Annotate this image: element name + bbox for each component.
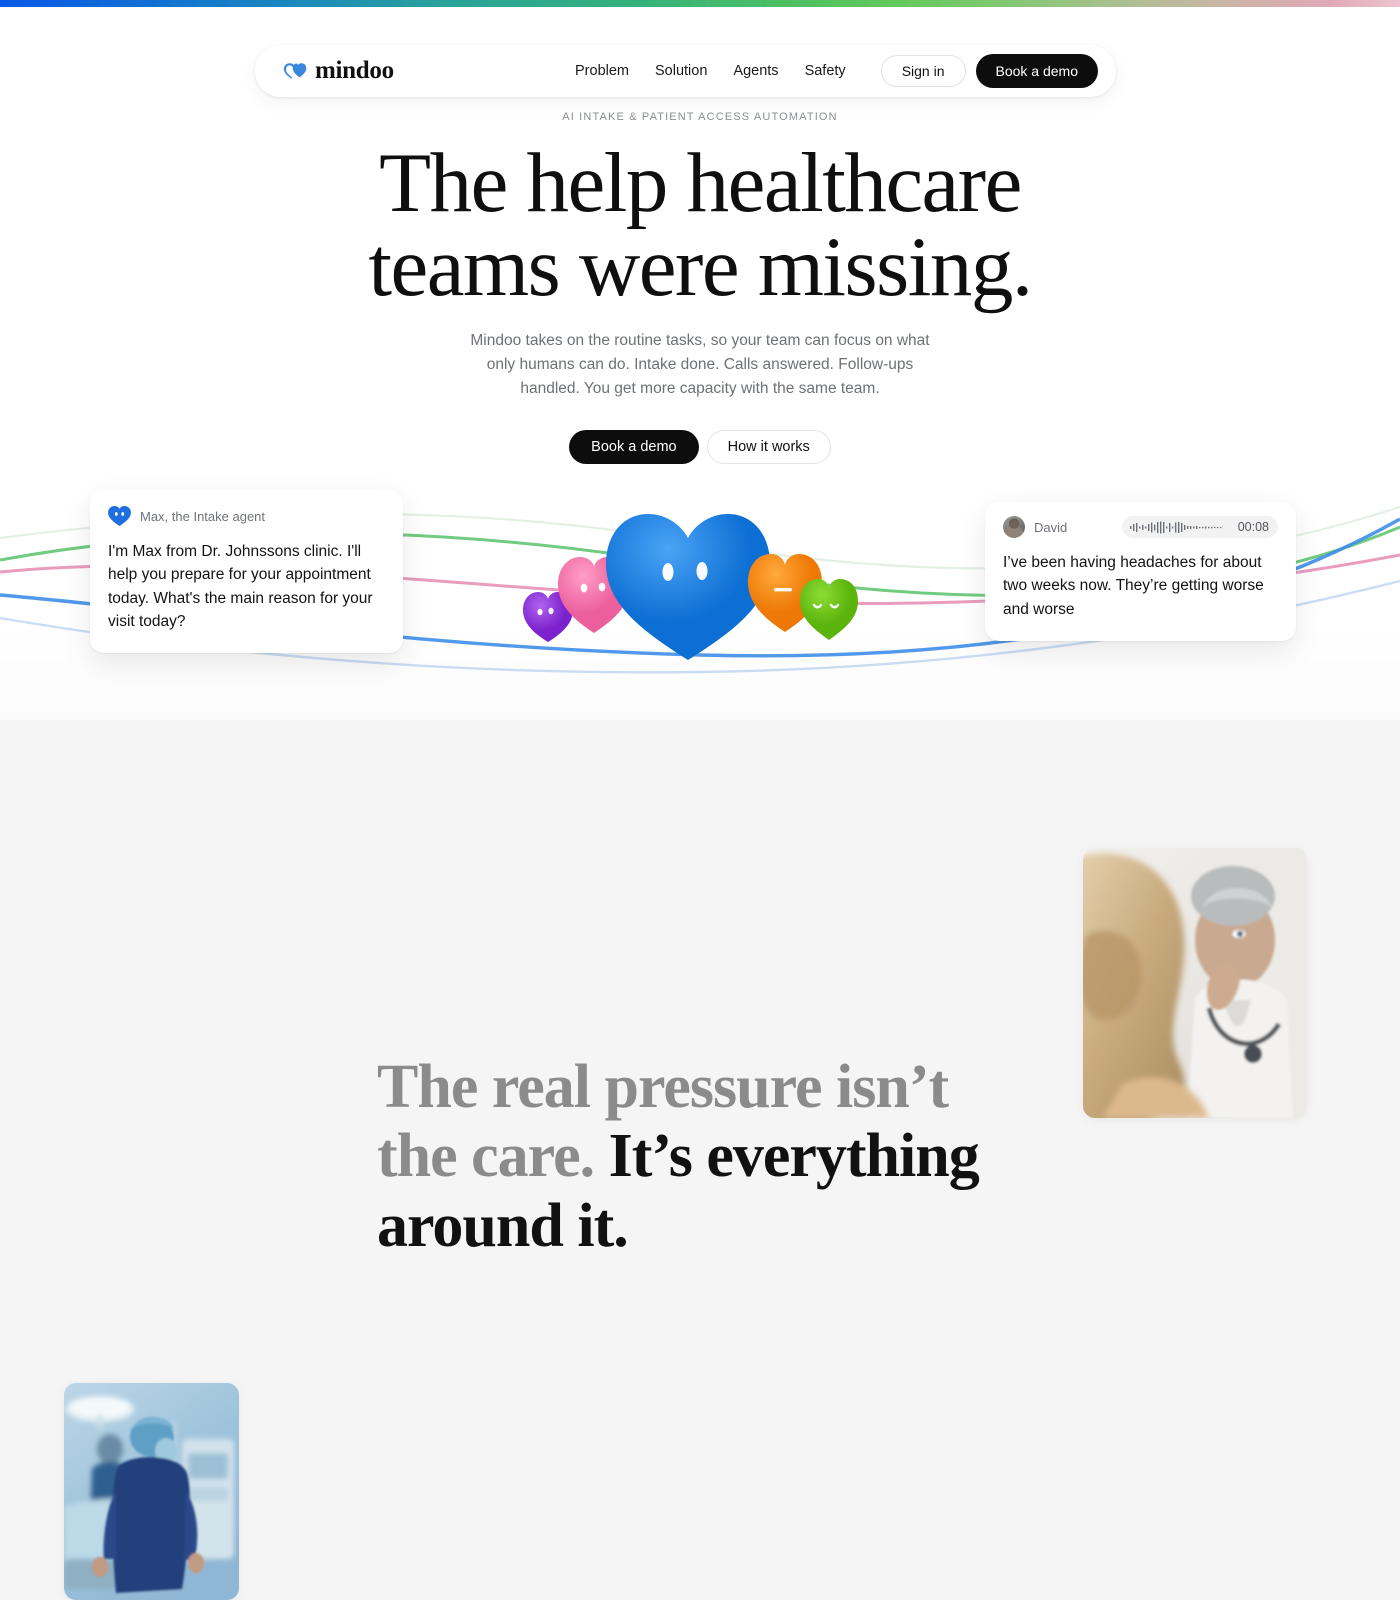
- nav-link-solution[interactable]: Solution: [655, 63, 707, 79]
- agent-heart-avatar-icon: [108, 506, 131, 527]
- chat-agent-sender: Max, the Intake agent: [140, 509, 265, 524]
- chat-patient-message: I’ve been having headaches for about two…: [1003, 551, 1278, 621]
- book-demo-button-hero[interactable]: Book a demo: [569, 430, 698, 464]
- pressure-heading-strong-1: It’s everything: [594, 1122, 979, 1190]
- voice-message-player[interactable]: 00:08: [1122, 516, 1278, 538]
- pressure-heading-strong-2: around it.: [377, 1192, 628, 1260]
- user-photo-avatar: [1003, 516, 1025, 538]
- main-navbar: mindoo Problem Solution Agents Safety Si…: [255, 45, 1116, 97]
- chat-patient-sender: David: [1034, 520, 1067, 535]
- top-gradient-bar: [0, 0, 1400, 7]
- audio-waveform-icon: [1130, 521, 1230, 534]
- hero-subcopy-line2: only humans can do. Intake done. Calls a…: [0, 353, 1400, 377]
- chat-card-agent-header: Max, the Intake agent: [108, 506, 385, 527]
- book-demo-button-nav[interactable]: Book a demo: [976, 54, 1099, 88]
- hero-headline: The help healthcare teams were missing.: [0, 141, 1400, 309]
- hero-cta-group: Book a demo How it works: [0, 430, 1400, 464]
- hero-subcopy-line1: Mindoo takes on the routine tasks, so yo…: [0, 329, 1400, 353]
- hero-headline-line2: teams were missing.: [0, 225, 1400, 309]
- hero-headline-line1: The help healthcare: [379, 136, 1021, 230]
- sign-in-button[interactable]: Sign in: [881, 55, 966, 87]
- hero-section: mindoo Problem Solution Agents Safety Si…: [0, 7, 1400, 720]
- nav-links: Problem Solution Agents Safety: [575, 63, 846, 79]
- chat-agent-message: I'm Max from Dr. Johnssons clinic. I'll …: [108, 540, 385, 633]
- nav-actions: Sign in Book a demo: [881, 54, 1098, 88]
- photo-doctor-listening: [1083, 848, 1307, 1118]
- chat-card-patient-header: David: [1003, 516, 1278, 538]
- brand-name: mindoo: [315, 57, 394, 85]
- heart-blue: [606, 514, 770, 660]
- hero-subcopy: Mindoo takes on the routine tasks, so yo…: [0, 329, 1400, 401]
- audio-duration: 00:08: [1238, 520, 1269, 534]
- chat-card-patient: David: [985, 502, 1296, 641]
- chat-card-agent: Max, the Intake agent I'm Max from Dr. J…: [90, 490, 403, 653]
- nav-link-safety[interactable]: Safety: [805, 63, 846, 79]
- brand-logo[interactable]: mindoo: [282, 57, 394, 85]
- heart-green: [800, 579, 858, 640]
- hero-subcopy-line3: handled. You get more capacity with the …: [0, 377, 1400, 401]
- pressure-heading: The real pressure isn’t the care. It’s e…: [377, 1053, 997, 1261]
- how-it-works-button[interactable]: How it works: [707, 430, 831, 464]
- heart-logo-icon: [282, 61, 308, 81]
- hero-eyebrow: AI INTAKE & PATIENT ACCESS AUTOMATION: [0, 111, 1400, 123]
- photo-operating-room: [64, 1383, 239, 1600]
- nav-link-problem[interactable]: Problem: [575, 63, 629, 79]
- plush-hearts-illustration: [510, 502, 870, 667]
- nav-link-agents[interactable]: Agents: [733, 63, 778, 79]
